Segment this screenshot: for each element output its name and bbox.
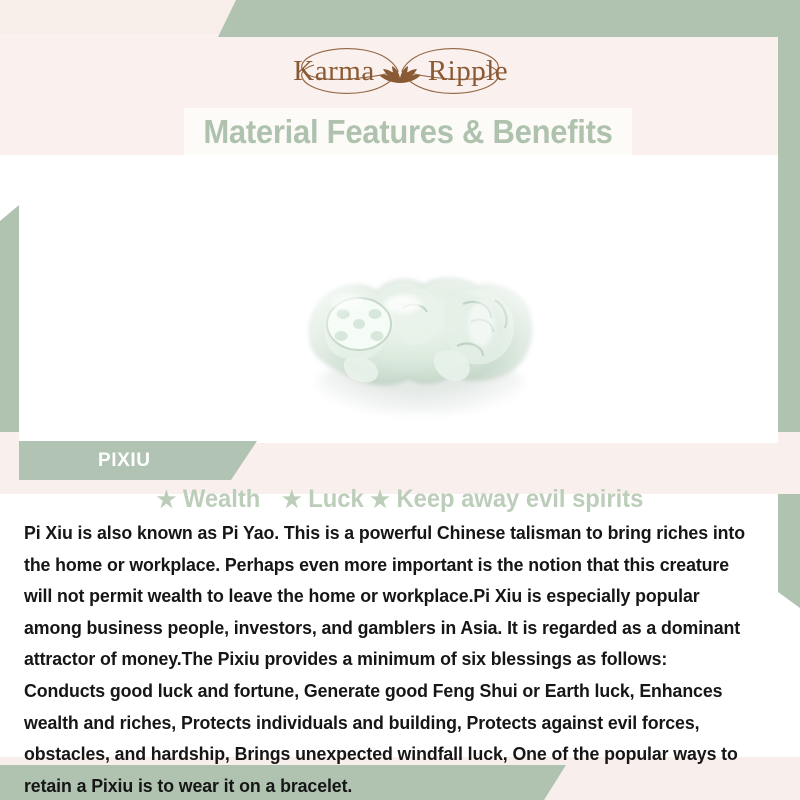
right-green-accent-strip bbox=[778, 0, 800, 608]
star-icon-2: ★ bbox=[282, 486, 302, 512]
page-title: Material Features & Benefits bbox=[197, 108, 618, 155]
star-icon-1: ★ bbox=[157, 486, 177, 512]
benefit-label-evil-spirits: Keep away evil spirits bbox=[396, 485, 643, 513]
benefit-label-luck: Luck bbox=[308, 485, 363, 513]
star-icon-3: ★ bbox=[370, 486, 390, 512]
jade-pixiu-figurine-icon bbox=[285, 258, 555, 423]
infographic-page: Karma Ripple Material Features & Benefit… bbox=[0, 0, 800, 800]
description-paragraph: Pi Xiu is also known as Pi Yao. This is … bbox=[24, 517, 752, 800]
pixiu-ribbon-label: PIXIU bbox=[98, 441, 151, 480]
top-green-accent-bar bbox=[218, 0, 800, 37]
benefits-row: ★ Wealth ★ Luck ★ Keep away evil spirits bbox=[20, 485, 780, 514]
benefit-label-wealth: Wealth bbox=[183, 485, 260, 513]
product-image bbox=[285, 258, 555, 423]
